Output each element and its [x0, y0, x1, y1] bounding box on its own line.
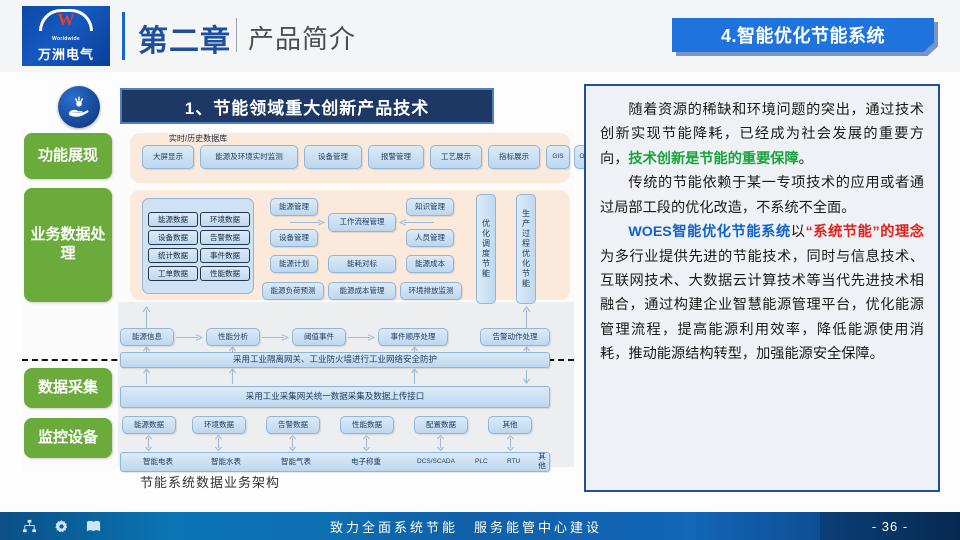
page-number: - 36 -	[820, 512, 960, 540]
logo-chinese-name: 万洲电气	[38, 44, 94, 63]
slide-header: W Worldwide 万洲电气 第二章 产品简介 4.智能优化节能系统	[0, 0, 960, 72]
section-tag-label: 4.智能优化节能系统	[721, 22, 885, 48]
logo-english-name: Worldwide	[52, 36, 80, 42]
db-box-device-data[interactable]: 设备数据	[148, 230, 198, 245]
arrow-data-6	[506, 435, 515, 451]
p1-highlight: 技术创新是节能的重要保障	[628, 151, 798, 167]
biz-box-workflow-mgmt[interactable]: 工作流程管理	[328, 213, 396, 232]
logo-letter: W	[39, 11, 93, 29]
biz-box-knowledge-mgmt[interactable]: 知识管理	[406, 198, 454, 216]
chapter-divider	[236, 18, 237, 52]
arrow-left-to-workflow	[290, 219, 326, 226]
sitemap-icon[interactable]	[22, 519, 37, 534]
section-tag: 4.智能优化节能系统	[672, 18, 938, 56]
arrow-data-1	[144, 435, 153, 451]
func-box-device-mgmt[interactable]: 设备管理	[304, 145, 362, 169]
device-box-other[interactable]: 其他	[535, 453, 549, 470]
db-box-performance-data[interactable]: 性能数据	[200, 266, 250, 281]
data-box-energy[interactable]: 能源数据	[122, 416, 176, 434]
func-box-kpi-display[interactable]: 指标展示	[488, 145, 540, 169]
chapter-subtitle: 产品简介	[248, 19, 356, 56]
paragraph-1: 随着资源的稀缺和环境问题的突出，通过技术创新实现节能降耗，已经成为社会发展的重要…	[600, 98, 924, 171]
slide: W Worldwide 万洲电气 第二章 产品简介 4.智能优化节能系统 1、节…	[0, 0, 960, 540]
section-tag-face: 4.智能优化节能系统	[672, 18, 934, 52]
proc-box-energy-info[interactable]: 能源信息	[120, 328, 174, 346]
arrow-data-3	[288, 435, 297, 451]
p1-text-b: 。	[799, 151, 813, 167]
arrow-up-alarm-action	[522, 306, 531, 328]
arrow-proc-3	[348, 334, 376, 341]
arrow-sec-4	[522, 368, 531, 384]
arrow-sec-2	[228, 368, 237, 384]
description-panel: 随着资源的稀缺和环境问题的突出，通过技术创新实现节能降耗，已经成为社会发展的重要…	[584, 84, 940, 492]
database-title: 实时/历史数据库	[142, 133, 254, 144]
slide-footer: 致力全面系统节能 服务能管中心建设 - 36 -	[0, 512, 960, 540]
biz-box-cost-mgmt[interactable]: 能源成本管理	[328, 282, 396, 300]
diagram-caption: 节能系统数据业务架构	[140, 472, 280, 491]
device-bar: 智能电表 智能水表 智能气表 电子称重 DCS/SCADA PLC RTU 其他	[120, 452, 550, 472]
footer-slogan-right: 服务能管中心建设	[474, 517, 602, 536]
device-box-weighing[interactable]: 电子称重	[351, 458, 381, 467]
architecture-diagram: 功能展现 业务数据处理 数据采集 监控设备 大屏显示 能源及环境实时监测 设备管…	[22, 130, 574, 470]
arrow-proc-1	[176, 334, 204, 341]
biz-box-emission-monitor[interactable]: 环境排放监测	[400, 282, 462, 300]
data-box-env[interactable]: 环境数据	[192, 416, 246, 434]
biz-box-energy-benchmark[interactable]: 能耗对标	[328, 255, 396, 273]
data-box-alarm[interactable]: 告警数据	[266, 416, 320, 434]
func-box-gis[interactable]: GIS	[546, 145, 570, 169]
arrow-right-to-workflow	[398, 219, 434, 226]
vbox-optimized-dispatch[interactable]: 优化调度节能	[476, 194, 496, 304]
arrow-sec-1	[142, 368, 151, 384]
chapter-accent-bar	[122, 12, 125, 60]
p2-text: 传统的节能依赖于某一专项技术的应用或者通过局部工段的优化改造，不系统不全面。	[600, 175, 924, 215]
proc-box-performance-analysis[interactable]: 性能分析	[206, 328, 260, 346]
biz-box-device-mgmt[interactable]: 设备管理	[270, 229, 318, 247]
layer-label-device: 监控设备	[24, 418, 112, 458]
db-box-stat-data[interactable]: 统计数据	[148, 248, 198, 263]
arrow-up-energy-info	[142, 306, 151, 328]
arrow-data-5	[436, 435, 445, 451]
db-box-workorder-data[interactable]: 工单数据	[148, 266, 198, 281]
p3-text-mid: 以	[791, 224, 806, 240]
func-box-realtime-monitor[interactable]: 能源及环境实时监测	[200, 145, 298, 169]
biz-box-energy-cost[interactable]: 能源成本	[406, 255, 454, 273]
footer-icon-group	[22, 519, 101, 534]
db-box-event-data[interactable]: 事件数据	[200, 248, 250, 263]
chapter-title: 第二章	[138, 16, 231, 60]
paragraph-3: WOES智能优化节能系统以“系统节能”的理念为多行业提供先进的节能技术，同时与信…	[600, 220, 924, 367]
footer-slogan-left: 致力全面系统节能	[330, 517, 458, 536]
collection-gateway-bar[interactable]: 采用工业采集网关统一数据采集及数据上传接口	[120, 386, 550, 408]
footer-slogan: 致力全面系统节能 服务能管中心建设	[330, 512, 602, 540]
proc-box-event-sequence[interactable]: 事件顺序处理	[378, 328, 448, 346]
biz-box-staff-mgmt[interactable]: 人员管理	[406, 229, 454, 247]
layer-label-function: 功能展现	[24, 133, 112, 179]
func-box-bigscreen[interactable]: 大屏显示	[142, 145, 194, 169]
p3-highlight-woes: WOES智能优化节能系统	[628, 224, 790, 240]
arrow-data-2	[214, 435, 223, 451]
arrow-sec-3	[410, 368, 419, 384]
device-box-water-meter[interactable]: 智能水表	[211, 458, 241, 467]
device-box-rtu[interactable]: RTU	[507, 458, 520, 465]
device-box-gas-meter[interactable]: 智能气表	[281, 458, 311, 467]
biz-box-load-forecast[interactable]: 能源负荷预测	[262, 282, 324, 300]
func-box-alarm-mgmt[interactable]: 报警管理	[368, 145, 424, 169]
db-box-energy-data[interactable]: 能源数据	[148, 212, 198, 227]
vbox-production-optimization[interactable]: 生产过程优化节能	[516, 194, 536, 304]
arrow-proc-2	[262, 334, 290, 341]
paragraph-2: 传统的节能依赖于某一专项技术的应用或者通过局部工段的优化改造，不系统不全面。	[600, 171, 924, 220]
idea-hand-icon	[58, 86, 100, 128]
gear-icon[interactable]	[54, 519, 69, 534]
proc-box-alarm-action[interactable]: 告警动作处理	[480, 328, 550, 346]
data-box-performance[interactable]: 性能数据	[340, 416, 394, 434]
biz-box-energy-plan[interactable]: 能源计划	[270, 255, 318, 273]
data-box-config[interactable]: 配置数据	[414, 416, 468, 434]
security-gateway-bar[interactable]: 采用工业隔离网关、工业防火墙进行工业网络安全防护	[120, 352, 550, 368]
arrow-data-4	[362, 435, 371, 451]
layer-label-collection: 数据采集	[24, 368, 112, 408]
db-box-alarm-data[interactable]: 告警数据	[200, 230, 250, 245]
section-subtitle: 1、节能领域重大创新产品技术	[120, 88, 494, 124]
device-box-dcs-scada[interactable]: DCS/SCADA	[417, 458, 455, 465]
biz-box-energy-mgmt[interactable]: 能源管理	[270, 198, 318, 216]
section-subtitle-label: 1、节能领域重大创新产品技术	[185, 94, 429, 119]
device-box-plc[interactable]: PLC	[475, 458, 488, 465]
book-icon[interactable]	[86, 519, 101, 534]
company-logo: W Worldwide 万洲电气	[22, 6, 110, 66]
p3-text-b: 为多行业提供先进的节能技术，同时与信息技术、互联网技术、大数据云计算技术等当代先…	[600, 249, 924, 363]
proc-box-threshold-event[interactable]: 阈值事件	[292, 328, 346, 346]
layer-label-business: 业务数据处理	[24, 188, 112, 302]
layer-label-business-text: 业务数据处理	[24, 226, 112, 264]
p3-highlight-concept: “系统节能”的理念	[806, 224, 924, 240]
func-box-process-display[interactable]: 工艺展示	[430, 145, 482, 169]
logo-mark-icon: W	[39, 9, 93, 35]
db-box-env-data[interactable]: 环境数据	[200, 212, 250, 227]
device-box-smart-meter[interactable]: 智能电表	[143, 458, 173, 467]
data-box-other[interactable]: 其他	[488, 416, 532, 434]
